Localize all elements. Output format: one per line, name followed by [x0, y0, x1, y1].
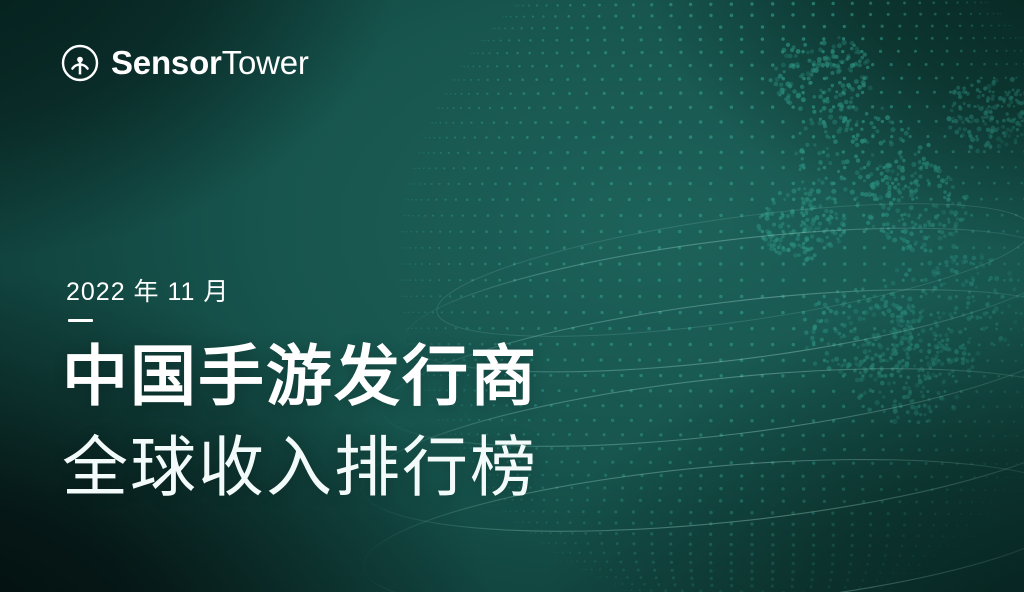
- brand-logo: SensorTower: [60, 40, 309, 86]
- brand-name-light: Tower: [222, 44, 309, 81]
- report-date: 2022 年 11 月: [66, 272, 229, 308]
- page-title-line-2: 全球收入排行榜: [62, 434, 538, 500]
- sensor-tower-signal-icon: [60, 43, 100, 83]
- brand-wordmark: SensorTower: [111, 46, 309, 81]
- brand-name-bold: Sensor: [111, 44, 222, 81]
- cover-slide: SensorTower 2022 年 11 月 中国手游发行商 全球收入排行榜: [0, 0, 1024, 592]
- page-title-line-1: 中国手游发行商: [62, 343, 538, 409]
- title-divider: [68, 319, 93, 322]
